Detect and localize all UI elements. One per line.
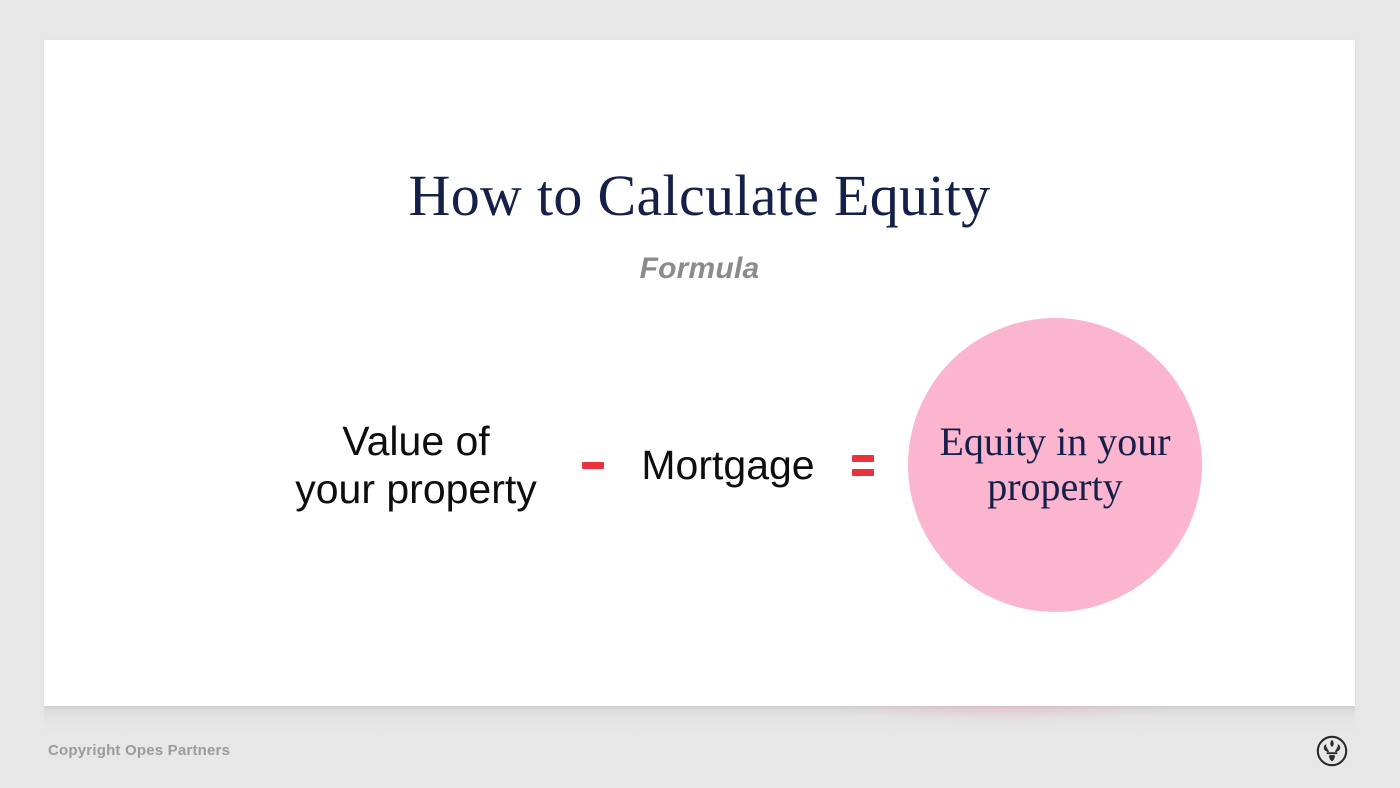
slide-subtitle: Formula <box>44 252 1355 286</box>
presentation-stage: How to Calculate Equity Formula Value of… <box>0 0 1400 788</box>
slide-canvas: How to Calculate Equity Formula Value of… <box>44 40 1355 706</box>
slide-title: How to Calculate Equity <box>44 166 1355 227</box>
equals-bar-top <box>852 455 874 462</box>
slide-reflection <box>44 706 1355 732</box>
result-circle: Equity in your property <box>908 318 1202 612</box>
equals-bar-bottom <box>852 469 874 476</box>
fleur-de-lis-logo <box>1312 731 1352 771</box>
formula-term-property-value: Value of your property <box>266 417 566 514</box>
equals-operator-icon <box>836 455 890 476</box>
formula-result-equity: Equity in your property <box>923 420 1186 510</box>
formula-term-mortgage: Mortgage <box>620 441 836 489</box>
minus-operator-icon <box>566 462 620 469</box>
equity-formula: Value of your property Mortgage Equity i… <box>224 285 1224 645</box>
minus-bar <box>582 462 604 469</box>
copyright-text: Copyright Opes Partners <box>48 742 230 759</box>
